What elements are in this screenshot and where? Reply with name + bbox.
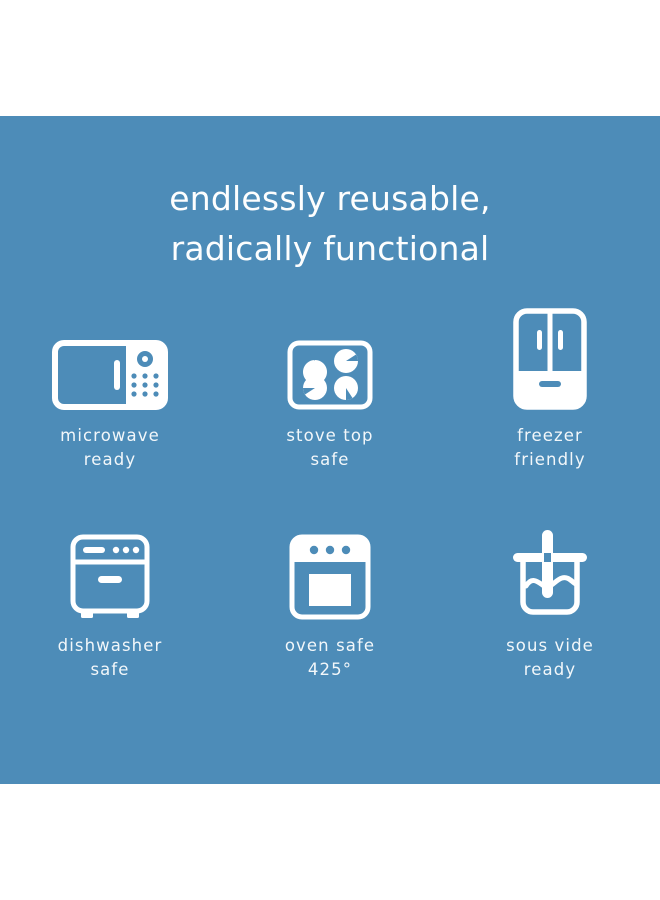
feature-item-microwave: microwave ready	[0, 306, 220, 516]
freezer-icon	[513, 306, 587, 410]
product-feature-graphic: endlessly reusable, radically functional	[0, 0, 660, 900]
feature-item-dishwasher: dishwasher safe	[0, 516, 220, 726]
dishwasher-icon	[68, 516, 152, 620]
feature-label-freezer: freezer friendly	[514, 424, 585, 472]
headline-line-1: endlessly reusable,	[0, 174, 660, 224]
feature-grid: microwave ready	[0, 306, 660, 726]
microwave-icon	[52, 306, 168, 410]
blue-feature-panel: endlessly reusable, radically functional	[0, 116, 660, 784]
feature-label-oven: oven safe 425°	[285, 634, 375, 682]
page-title: endlessly reusable, radically functional	[0, 174, 660, 274]
oven-icon	[288, 516, 372, 620]
feature-label-microwave: microwave ready	[60, 424, 160, 472]
stove-top-icon	[287, 306, 373, 410]
feature-item-stove-top: stove top safe	[220, 306, 440, 516]
sous-vide-icon	[500, 516, 600, 620]
feature-label-stove-top: stove top safe	[286, 424, 373, 472]
feature-label-sous-vide: sous vide ready	[506, 634, 594, 682]
feature-item-oven: oven safe 425°	[220, 516, 440, 726]
feature-label-dishwasher: dishwasher safe	[58, 634, 163, 682]
feature-item-freezer: freezer friendly	[440, 306, 660, 516]
headline-line-2: radically functional	[0, 224, 660, 274]
feature-item-sous-vide: sous vide ready	[440, 516, 660, 726]
